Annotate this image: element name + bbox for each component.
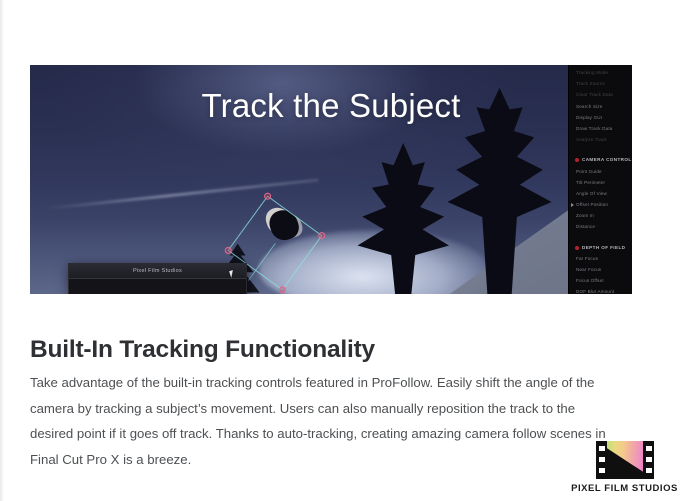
viewer-title-text: Track the Subject xyxy=(30,87,632,125)
inspector-row[interactable]: Tracking Mode xyxy=(569,67,632,78)
inspector-group-label: CAMERA CONTROLS xyxy=(582,157,632,162)
inspector-row-distance[interactable]: Distance xyxy=(569,221,632,232)
inspector-row-display-gui[interactable]: Display GUI xyxy=(569,112,632,123)
inspector-group-camera-controls[interactable]: CAMERA CONTROLS xyxy=(569,154,632,165)
inspector-row-near-focus[interactable]: Near Focus xyxy=(569,264,632,275)
film-strip-icon xyxy=(596,441,654,479)
record-dot-icon xyxy=(575,246,579,250)
inspector-row-zoom-in[interactable]: Zoom In xyxy=(569,210,632,221)
logo-wordmark: PIXEL FILM STUDIOS xyxy=(567,483,682,494)
film-perforation xyxy=(646,457,652,462)
page-root: Track the Subject Pixel Film Studios Pro… xyxy=(0,0,682,501)
page-title: Built-In Tracking Functionality xyxy=(30,336,375,364)
inspector-row-search-size[interactable]: Search Size xyxy=(569,101,632,112)
film-perforation xyxy=(646,468,652,473)
inspector-row-dof-blur-amount[interactable]: DOF Blur Amount xyxy=(569,286,632,294)
record-dot-icon xyxy=(575,158,579,162)
inspector-row-focus-offset[interactable]: Focus Offset xyxy=(569,275,632,286)
inspector-spacer xyxy=(569,233,632,242)
inspector-row[interactable]: Track Source xyxy=(569,78,632,89)
inspector-row-offset-position[interactable]: Offset Position xyxy=(569,199,632,210)
product-screenshot-figure: Track the Subject Pixel Film Studios Pro… xyxy=(30,65,632,294)
processing-dialog-title: Pixel Film Studios xyxy=(69,264,246,279)
film-perforation xyxy=(646,446,652,451)
film-perforation xyxy=(599,457,605,462)
inspector-row-far-focus[interactable]: Far Focus xyxy=(569,253,632,264)
processing-dialog-body: Processing Frames - 56 out of 182 Stop T… xyxy=(69,279,246,294)
inspector-row-draw-track-data[interactable]: Draw Track Data xyxy=(569,123,632,134)
article-paragraph: Take advantage of the built-in tracking … xyxy=(30,370,614,472)
film-strip-right-rail xyxy=(643,441,654,479)
inspector-spacer xyxy=(569,145,632,154)
page-left-edge-rail xyxy=(0,0,4,501)
film-perforation xyxy=(599,446,605,451)
pixel-film-studios-logo[interactable]: PIXEL FILM STUDIOS xyxy=(567,441,682,501)
film-perforation xyxy=(599,468,605,473)
inspector-row-tilt-perimeter[interactable]: Tilt Perimeter xyxy=(569,177,632,188)
film-strip-left-rail xyxy=(596,441,607,479)
processing-dialog: Pixel Film Studios Processing Frames - 5… xyxy=(68,263,247,294)
inspector-row-analyze-track[interactable]: Analyze Track xyxy=(569,134,632,145)
inspector-row[interactable]: Clear Track Data xyxy=(569,89,632,100)
inspector-sidebar[interactable]: Tracking Mode Track Source Clear Track D… xyxy=(568,65,632,294)
inspector-group-depth-of-field[interactable]: DEPTH OF FIELD xyxy=(569,242,632,253)
inspector-group-label: DEPTH OF FIELD xyxy=(582,245,625,250)
inspector-row-point-guide[interactable]: Point Guide xyxy=(569,166,632,177)
inspector-row-angle-of-view[interactable]: Angle Of View xyxy=(569,188,632,199)
